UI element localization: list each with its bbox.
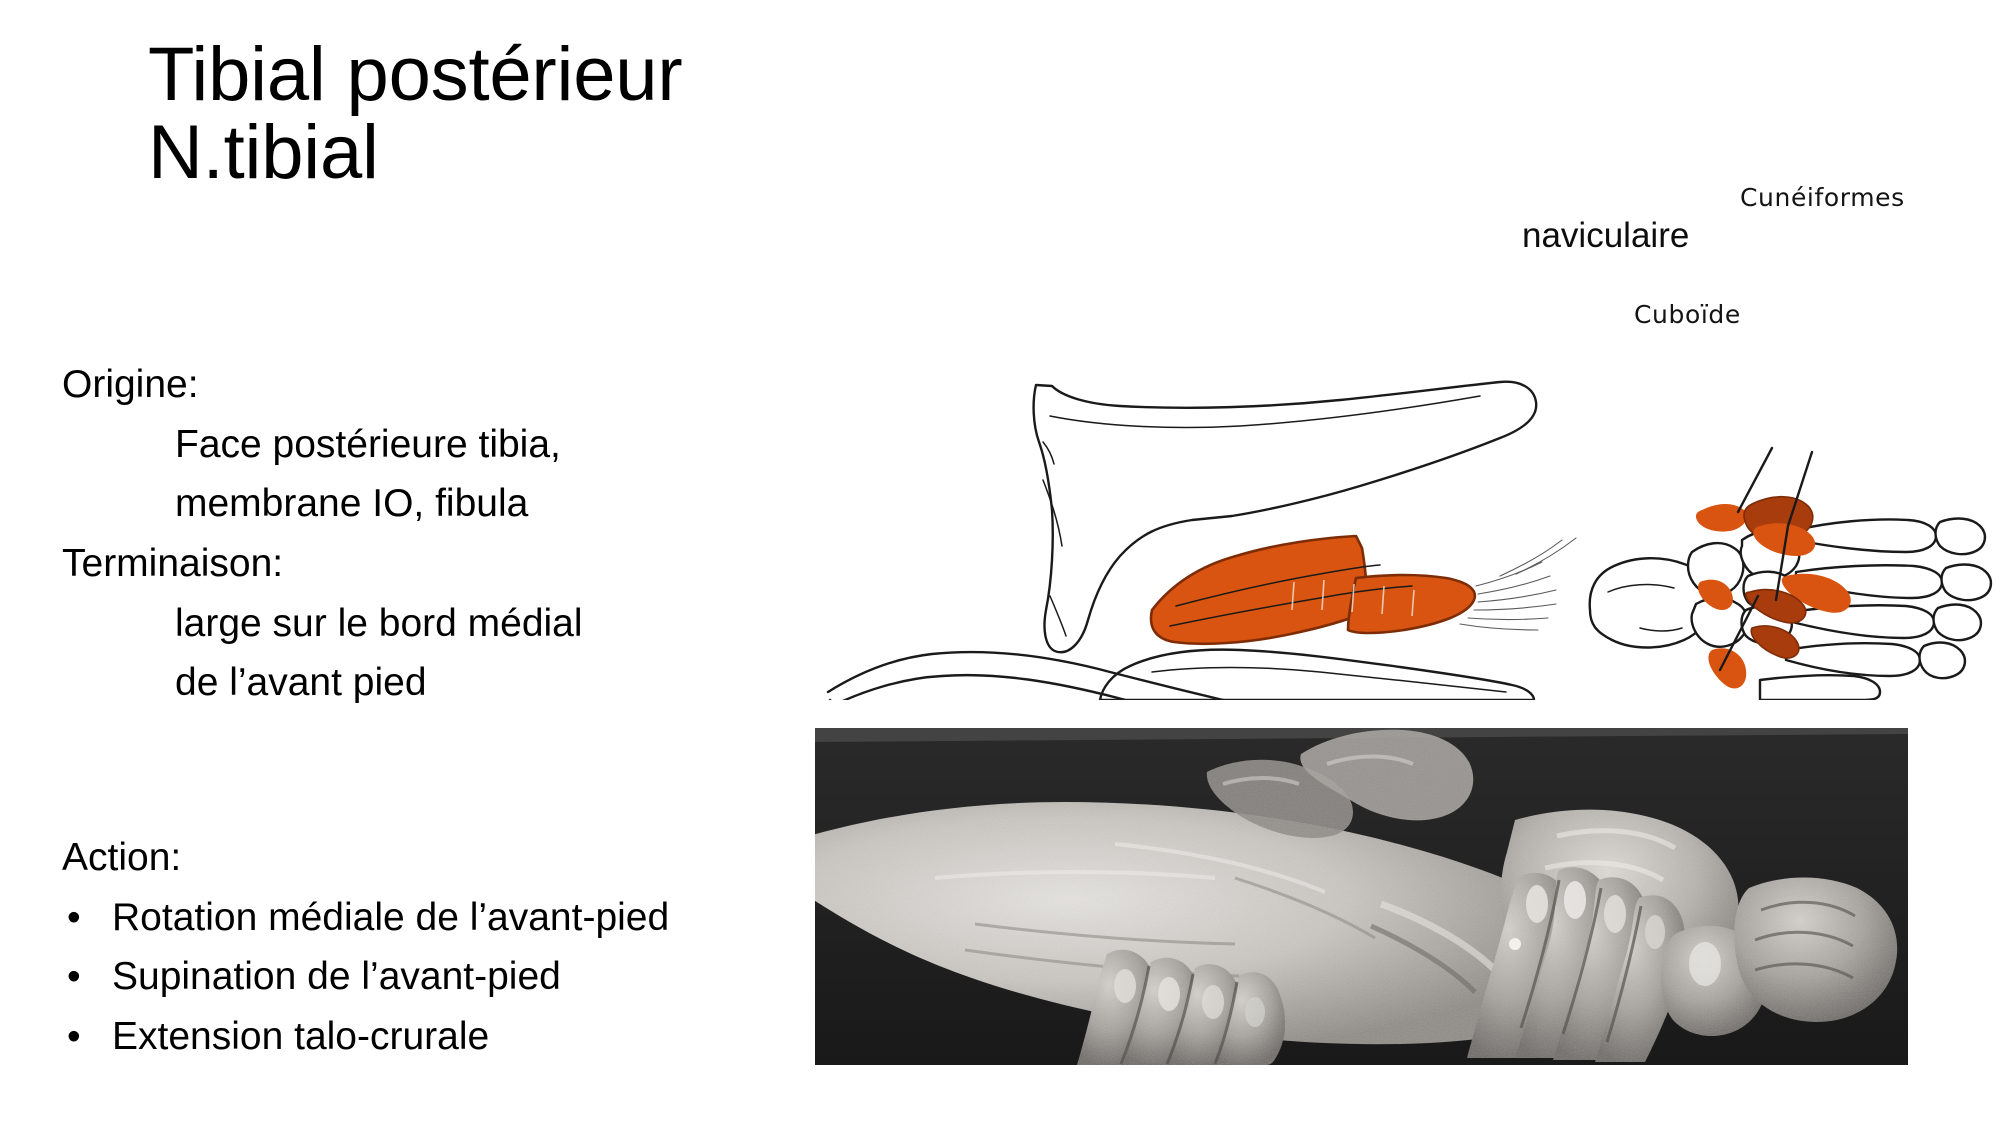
bullet-dot-icon: • (67, 888, 81, 948)
action-heading: Action: (62, 828, 762, 888)
foot-skeleton-drawing (1590, 448, 1991, 700)
label-cuboide: Cuboïde (1634, 300, 1741, 329)
action-text-block: Action: • Rotation médiale de l’avant-pi… (62, 828, 762, 1067)
action-bullet-2: • Supination de l’avant-pied (62, 947, 762, 1007)
tibia-fibula-bone-drawing (1034, 382, 1576, 700)
action-bullet-1-label: Rotation médiale de l’avant-pied (112, 896, 669, 939)
anatomy-illustration: .ln { fill:none; stroke:#1a1a1a; stroke-… (800, 180, 2000, 700)
origin-line-1: Face postérieure tibia, (62, 415, 762, 475)
page-title-line-1: Tibial postérieur (148, 36, 908, 114)
action-bullet-3-label: Extension talo-crurale (112, 1015, 489, 1058)
origin-line-2: membrane IO, fibula (62, 474, 762, 534)
insertion-heading: Terminaison: (62, 534, 762, 594)
origin-insertion-text-block: Origine: Face postérieure tibia, membran… (62, 355, 762, 713)
label-cuneiformes: Cunéiformes (1740, 183, 1905, 212)
clinical-photograph (815, 728, 1908, 1065)
insertion-line-1: large sur le bord médial (62, 594, 762, 654)
action-bullet-3: • Extension talo-crurale (62, 1007, 762, 1067)
bullet-dot-icon: • (67, 1007, 81, 1067)
slide-canvas: Tibial postérieur N.tibial Origine: Face… (0, 0, 2000, 1125)
origin-heading: Origine: (62, 355, 762, 415)
action-bullet-2-label: Supination de l’avant-pied (112, 955, 561, 998)
bullet-dot-icon: • (67, 947, 81, 1007)
insertion-line-2: de l’avant pied (62, 653, 762, 713)
action-bullet-1: • Rotation médiale de l’avant-pied (62, 888, 762, 948)
page-title: Tibial postérieur N.tibial (148, 36, 908, 193)
page-title-line-2: N.tibial (148, 114, 908, 192)
label-naviculaire: naviculaire (1522, 218, 1689, 253)
